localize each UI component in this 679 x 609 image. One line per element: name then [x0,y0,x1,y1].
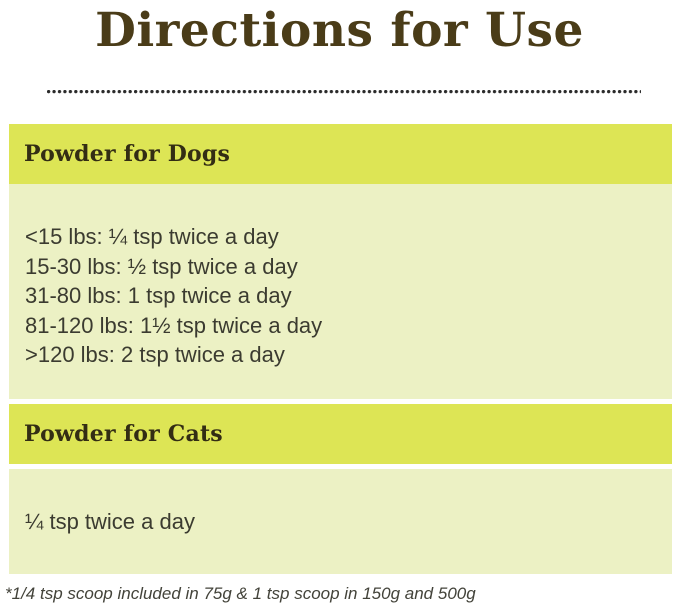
section-header-cats-label: Powder for Cats [24,421,223,447]
dose-line: 15-30 lbs: ½ tsp twice a day [25,252,672,282]
section-header-dogs-label: Powder for Dogs [24,141,230,167]
section-header-dogs: Powder for Dogs [9,124,672,184]
section-header-cats: Powder for Cats [9,404,672,464]
dose-line: ¼ tsp twice a day [25,507,672,537]
dose-line: 31-80 lbs: 1 tsp twice a day [25,281,672,311]
page-title: Directions for Use [0,2,679,60]
footnote: *1/4 tsp scoop included in 75g & 1 tsp s… [5,583,476,605]
dotted-divider [47,90,641,94]
dose-line: <15 lbs: ¼ tsp twice a day [25,222,672,252]
dose-line: 81-120 lbs: 1½ tsp twice a day [25,311,672,341]
section-body-dogs: <15 lbs: ¼ tsp twice a day 15-30 lbs: ½ … [9,184,672,399]
directions-for-use-panel: Directions for Use Powder for Dogs <15 l… [0,0,679,609]
dosage-panel: Powder for Dogs <15 lbs: ¼ tsp twice a d… [9,124,672,574]
section-body-cats: ¼ tsp twice a day [9,469,672,574]
dose-line: >120 lbs: 2 tsp twice a day [25,340,672,370]
